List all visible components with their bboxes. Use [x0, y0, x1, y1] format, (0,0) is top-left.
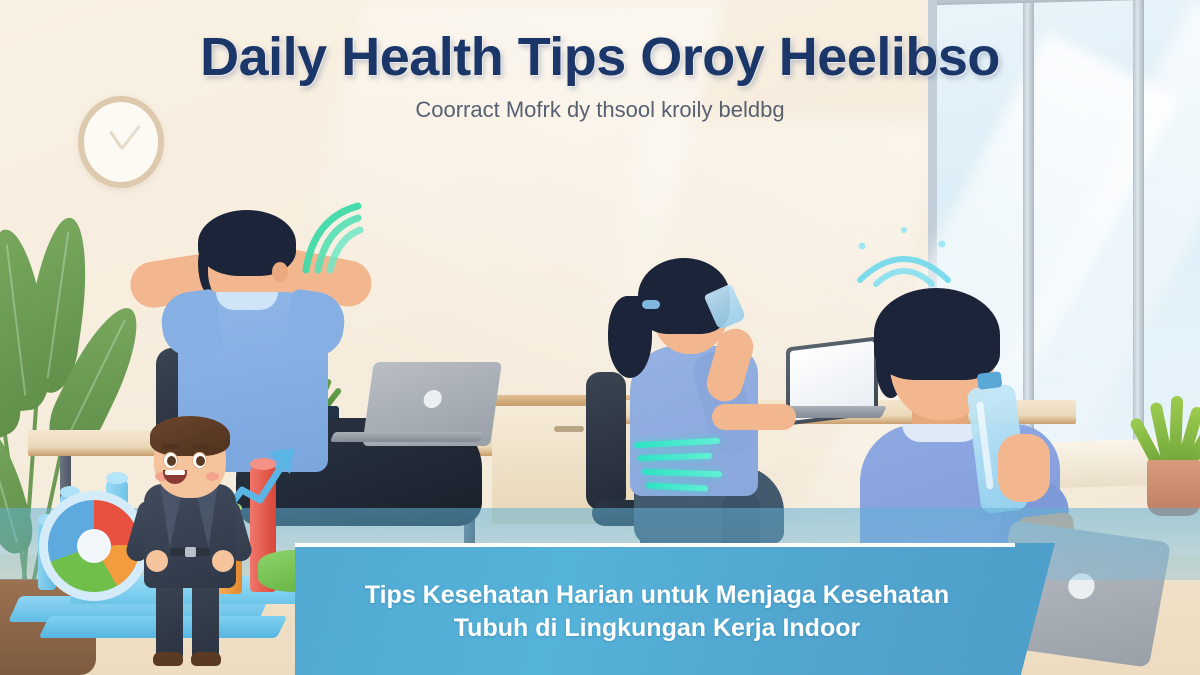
caption-text: Tips Kesehatan Harian untuk Menjaga Kese…	[337, 579, 977, 646]
eye	[192, 452, 207, 469]
woman-drinking	[594, 254, 824, 544]
window-plant	[1136, 388, 1200, 468]
title-block: Daily Health Tips Oroy Heelibso Coorract…	[0, 26, 1200, 123]
caption-banner: Tips Kesehatan Harian untuk Menjaga Kese…	[295, 543, 1055, 675]
shoe	[153, 652, 183, 666]
page-title: Daily Health Tips Oroy Heelibso	[0, 26, 1200, 88]
belt-buckle	[185, 547, 196, 557]
shoe	[191, 652, 221, 666]
shirt-collar	[216, 292, 278, 310]
hair-tie	[642, 300, 660, 309]
page-subtitle: Coorract Mofrk dy thsool kroily beldbg	[0, 97, 1200, 123]
leg	[192, 578, 219, 660]
eye	[163, 452, 178, 469]
resting-arm	[712, 404, 796, 430]
poster-canvas: Daily Health Tips Oroy Heelibso Coorract…	[0, 0, 1200, 675]
eye	[966, 362, 976, 375]
cheek-blush	[206, 472, 219, 481]
mascot-body	[130, 420, 248, 666]
window-mullion-horizontal	[937, 0, 1200, 5]
caption-line-1: Tips Kesehatan Harian untuk Menjaga Kese…	[365, 581, 949, 609]
hand	[146, 550, 168, 572]
bottle-cap	[977, 371, 1003, 390]
eye	[928, 362, 938, 375]
shirt-collar	[902, 424, 980, 442]
suit-jacket	[144, 484, 236, 588]
mascot-hair	[150, 416, 230, 456]
ear	[272, 262, 288, 282]
leg	[156, 578, 183, 660]
hydration-waves-icon	[846, 224, 962, 290]
laptop-logo-icon	[422, 390, 443, 408]
caption-line-2: Tubuh di Lingkungan Kerja Indoor	[454, 614, 860, 642]
hand	[212, 550, 234, 572]
stretch-waves-icon	[296, 198, 376, 278]
hand	[998, 434, 1050, 502]
